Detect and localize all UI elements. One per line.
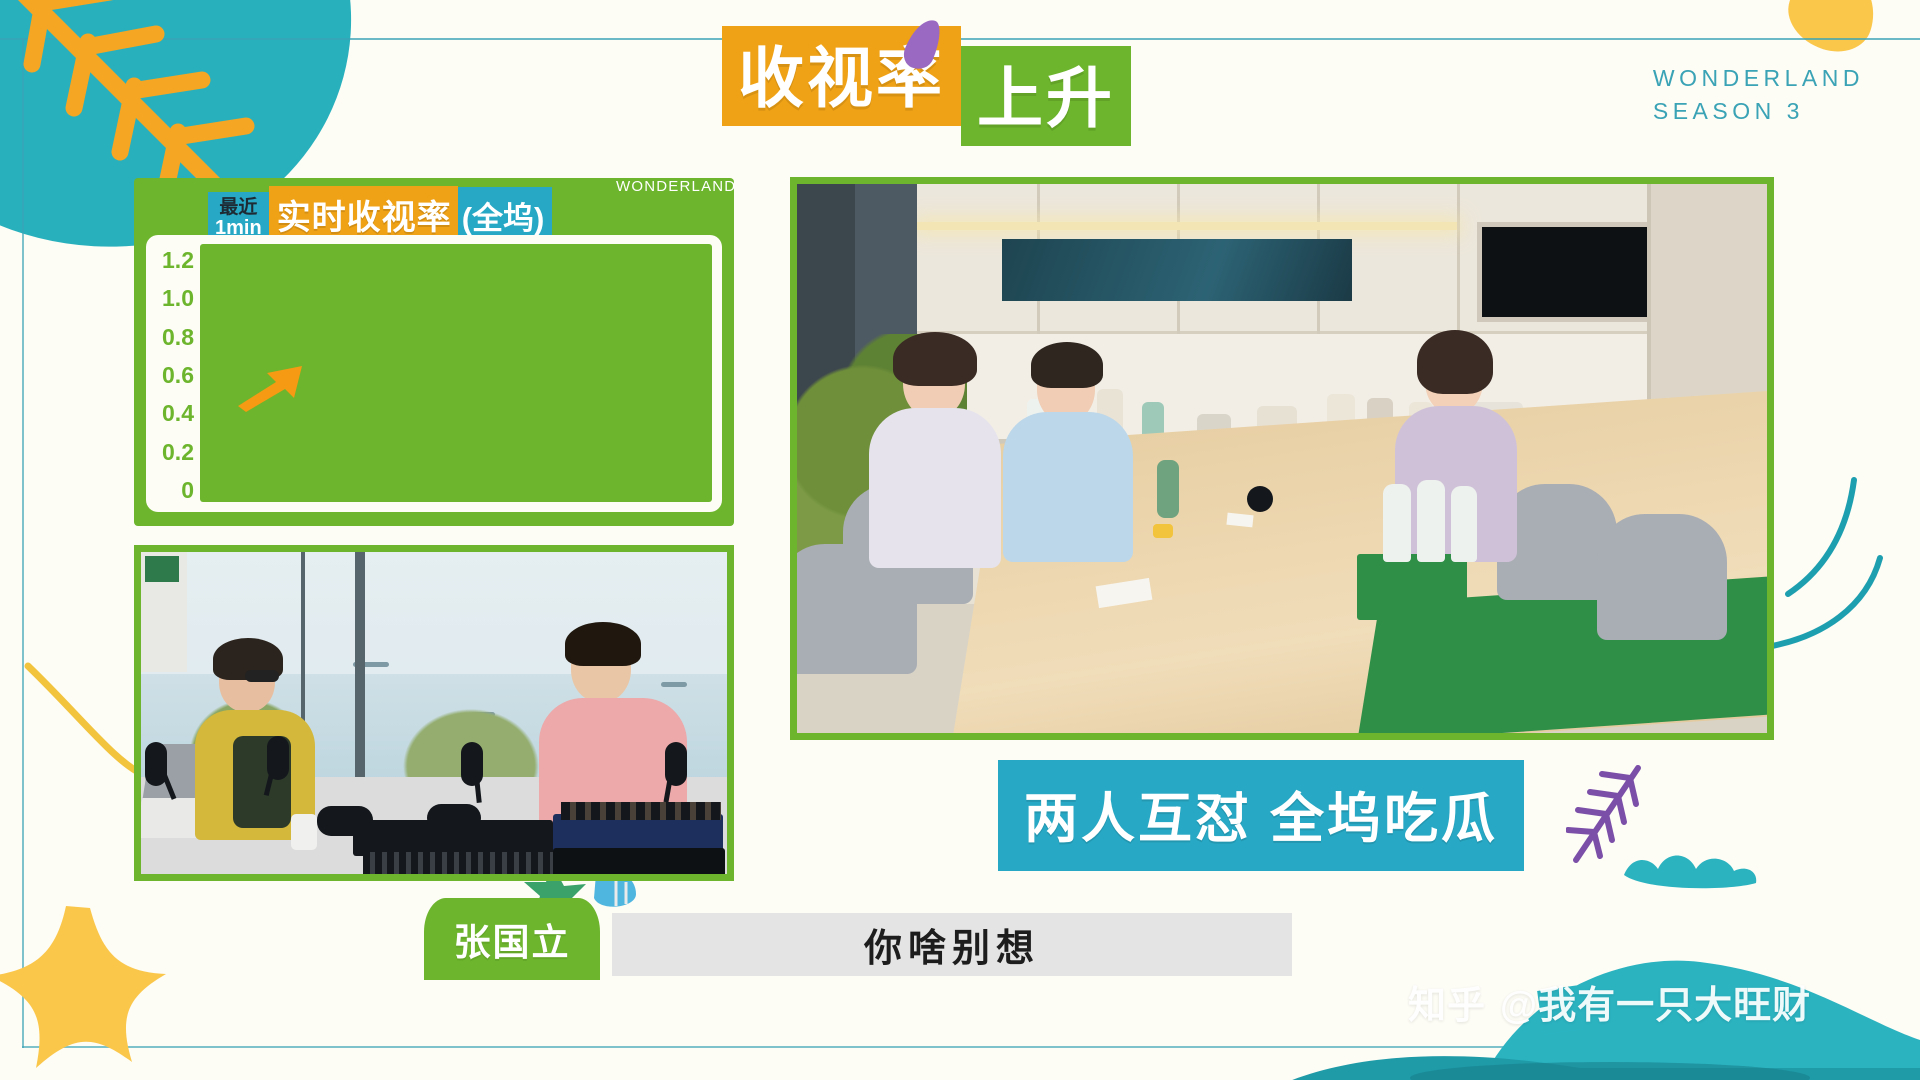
ratings-chart-panel: 最近 1min 实时收视率 (全坞) WONDERLAND 1.2 1.0 0.… — [134, 178, 734, 526]
y-tick-label: 0.6 — [162, 364, 194, 387]
chart-body: 1.2 1.0 0.8 0.6 0.4 0.2 0 — [146, 235, 722, 512]
y-tick-label: 1.0 — [162, 287, 194, 310]
chart-y-axis: 1.2 1.0 0.8 0.6 0.4 0.2 0 — [146, 235, 200, 512]
season-line-2: SEASON 3 — [1653, 95, 1864, 128]
bottom-rule-line — [22, 1046, 1920, 1048]
subtitle-text: 你啥别想 — [612, 913, 1292, 976]
page-title: 收视率 上升 — [722, 26, 1131, 146]
highlight-caption: 两人互怼 全坞吃瓜 — [998, 760, 1524, 871]
curved-lines-icon — [1770, 470, 1920, 700]
watermark-logo: 知乎 — [1408, 974, 1486, 1029]
season-label: WONDERLAND SEASON 3 — [1653, 62, 1864, 127]
main-video-frame-content — [797, 184, 1767, 733]
y-tick-label: 0.4 — [162, 402, 194, 425]
y-tick-label: 1.2 — [162, 249, 194, 272]
recent-badge-line1: 最近 — [215, 197, 262, 218]
watermark: 知乎 @我有一只大旺财 — [1408, 974, 1811, 1029]
title-secondary: 上升 — [961, 46, 1131, 146]
y-tick-label: 0 — [181, 479, 194, 502]
chart-brand-label: WONDERLAND — [616, 178, 736, 195]
cloud-icon — [1620, 845, 1760, 891]
main-video-feed[interactable] — [790, 177, 1774, 740]
speaker-name-tag: 张国立 — [424, 898, 600, 980]
chart-plot-area — [200, 244, 712, 502]
left-rule-line — [22, 38, 24, 1048]
broadcast-overlay-screen: 收视率 上升 WONDERLAND SEASON 3 最近 1min 实时收视率… — [0, 0, 1920, 1080]
yellow-blob-decoration — [1779, 0, 1886, 61]
fern-leaf-icon — [1566, 760, 1656, 870]
starfish-icon — [0, 900, 200, 1080]
arrow-up-right-icon — [236, 362, 306, 412]
speaker-name: 张国立 — [454, 912, 571, 966]
secondary-video-feed[interactable] — [134, 545, 734, 881]
season-line-1: WONDERLAND — [1653, 62, 1864, 95]
secondary-video-frame-content — [141, 552, 727, 874]
y-tick-label: 0.2 — [162, 441, 194, 464]
watermark-handle: @我有一只大旺财 — [1500, 974, 1811, 1029]
y-tick-label: 0.8 — [162, 326, 194, 349]
